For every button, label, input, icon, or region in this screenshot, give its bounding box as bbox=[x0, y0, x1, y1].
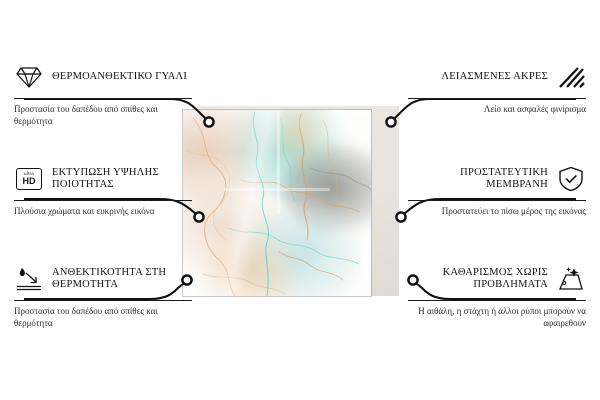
diamond-icon bbox=[14, 63, 44, 91]
feature-title: ΘΕΡΜΟΑΝΘΕΚΤΙΚΟ ΓΥΑΛΙ bbox=[52, 71, 192, 84]
feature-title: ΑΝΘΕΚΤΙΚΟΤΗΤΑ ΣΤΗ ΘΕΡΜΟΤΗΤΑ bbox=[52, 267, 192, 292]
feature-title: ΠΡΟΣΤΑΤΕΥΤΙΚΗ ΜΕΜΒΡΑΝΗ bbox=[408, 167, 548, 192]
feature-protective-membrane: ΠΡΟΣΤΑΤΕΥΤΙΚΗ ΜΕΜΒΡΑΝΗ Προστατεύει το πί… bbox=[408, 164, 586, 218]
product-image bbox=[183, 110, 385, 300]
feature-heat-resistant-glass: ΘΕΡΜΟΑΝΘΕΚΤΙΚΟ ΓΥΑΛΙ Προστασία του δαπέδ… bbox=[14, 62, 192, 127]
feature-title: ΚΑΘΑΡΙΣΜΟΣ ΧΩΡΙΣ ΠΡΟΒΛΗΜΑΤΑ bbox=[408, 267, 548, 292]
ultra-hd-bottom-label: HD bbox=[23, 177, 36, 186]
feature-description: Προστατεύει το πίσω μέρος της εικόνας bbox=[408, 206, 586, 218]
feature-description: Λείο και ασφαλές φινίρισμα bbox=[408, 104, 586, 116]
feature-heat-durability: ΑΝΘΕΚΤΙΚΟΤΗΤΑ ΣΤΗ ΘΕΡΜΟΤΗΤΑ Προστασία το… bbox=[14, 264, 192, 329]
divider bbox=[408, 200, 586, 201]
ultra-hd-icon: ultra HD bbox=[14, 165, 44, 193]
diagonal-stripes-icon bbox=[556, 63, 586, 91]
feature-polished-edges: ΛΕΙΑΣΜΕΝΕΣ ΑΚΡΕΣ Λείο και ασφαλές φινίρι… bbox=[408, 62, 586, 116]
feature-high-quality-print: ultra HD ΕΚΤΥΠΩΣΗ ΥΨΗΛΗΣ ΠΟΙΟΤΗΤΑΣ Πλούσ… bbox=[14, 164, 192, 218]
feature-description: Πλούσια χρώματα και ευκρινής εικόνα bbox=[14, 206, 192, 218]
divider bbox=[14, 300, 192, 301]
sparkle-cloth-icon bbox=[556, 265, 586, 293]
feature-description: Προστασία του δαπέδου από σπίθες και θερ… bbox=[14, 306, 192, 329]
feature-title: ΕΚΤΥΠΩΣΗ ΥΨΗΛΗΣ ΠΟΙΟΤΗΤΑΣ bbox=[52, 167, 192, 192]
flame-deflect-icon bbox=[14, 265, 44, 293]
feature-easy-cleaning: ΚΑΘΑΡΙΣΜΟΣ ΧΩΡΙΣ ΠΡΟΒΛΗΜΑΤΑ Η αιθάλη, η … bbox=[408, 264, 586, 329]
divider bbox=[14, 200, 192, 201]
shield-check-icon bbox=[556, 165, 586, 193]
divider bbox=[408, 98, 586, 99]
ink-art-veins bbox=[183, 110, 371, 296]
divider bbox=[14, 98, 192, 99]
feature-title: ΛΕΙΑΣΜΕΝΕΣ ΑΚΡΕΣ bbox=[408, 71, 548, 84]
divider bbox=[408, 300, 586, 301]
infographic-canvas: ΘΕΡΜΟΑΝΘΕΚΤΙΚΟ ΓΥΑΛΙ Προστασία του δαπέδ… bbox=[0, 0, 600, 400]
feature-description: Προστασία του δαπέδου από σπίθες και θερ… bbox=[14, 104, 192, 127]
product-glass-panel bbox=[183, 110, 371, 296]
feature-description: Η αιθάλη, η στάχτη ή άλλοι ρύποι μπορούν… bbox=[408, 306, 586, 329]
